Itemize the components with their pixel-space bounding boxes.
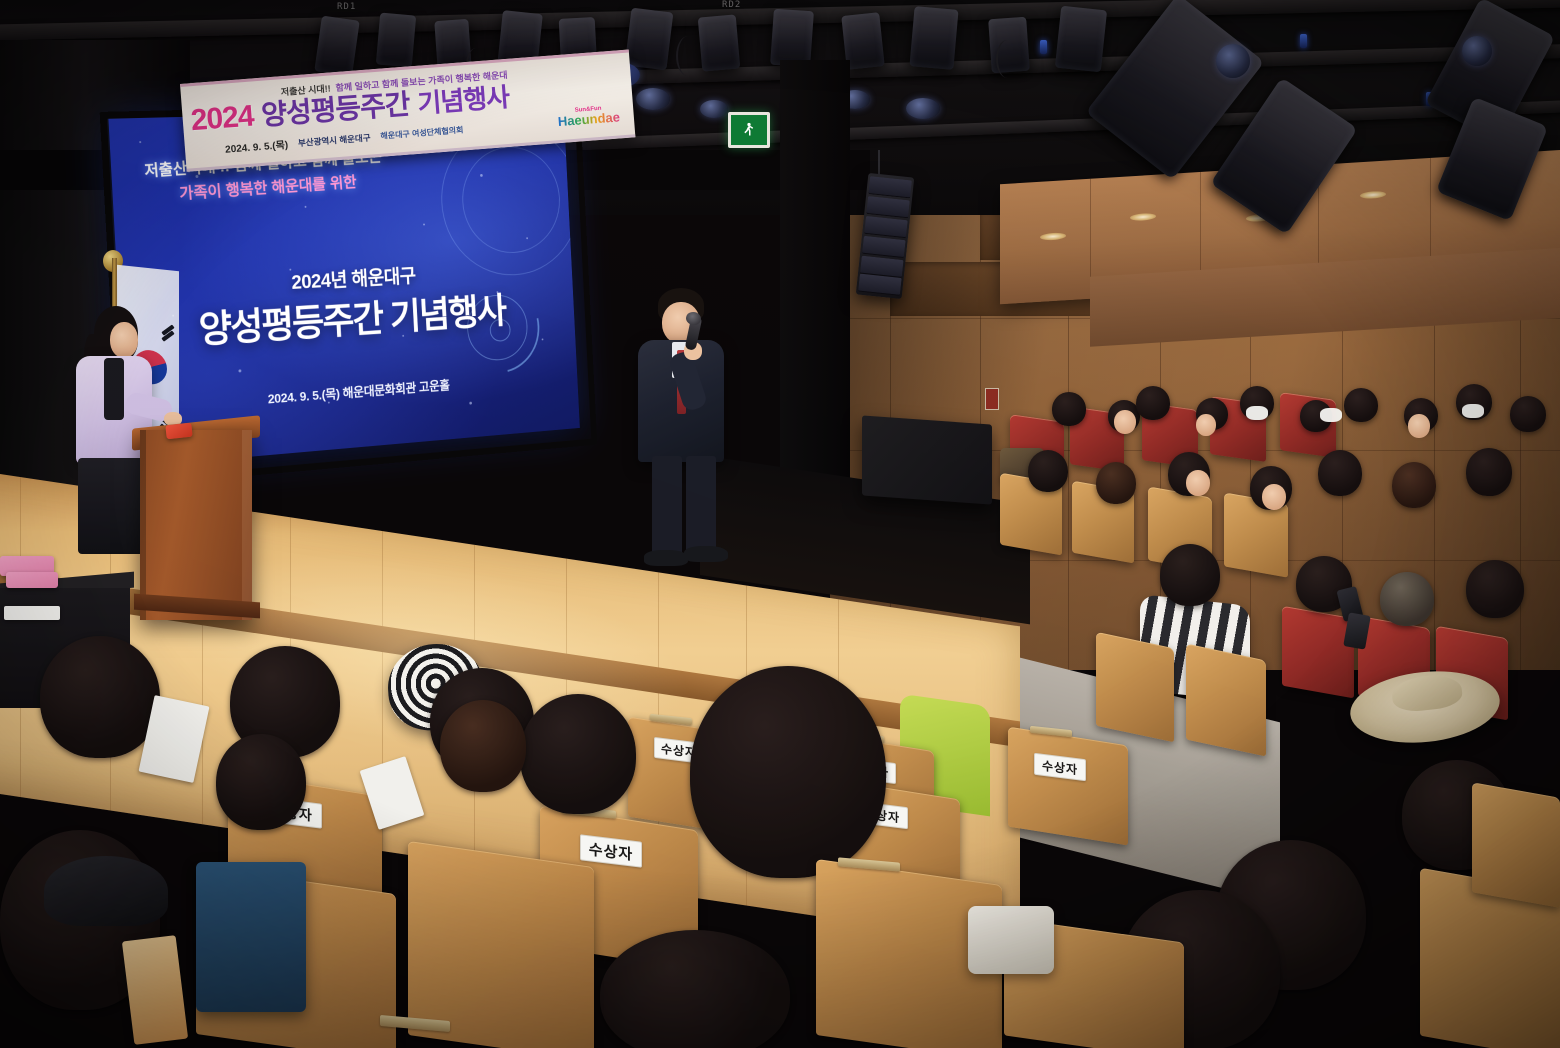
handbag (968, 906, 1054, 974)
face-mask (1462, 404, 1484, 418)
lamp-lens (1462, 36, 1492, 66)
audience-head (216, 734, 306, 830)
audience-head (1466, 448, 1512, 496)
podium-red-card (165, 423, 192, 440)
banner-year: 2024 (190, 100, 255, 139)
stage-light (376, 13, 416, 68)
banner-date: 2024. 9. 5.(목) (224, 136, 288, 156)
banner-org-2: 해운대구 여성단체협의회 (380, 124, 464, 141)
audience-head (40, 636, 160, 758)
audience-head (1510, 396, 1546, 432)
banner-title-sub: 기념행사 (416, 77, 510, 121)
banner-org-1: 부산광역시 해운대구 (298, 131, 371, 149)
rig-label-rd2: RD2 (722, 0, 741, 10)
audience-head (1136, 386, 1170, 420)
rig-label-rd1: RD1 (337, 2, 356, 12)
haeundae-logo: Sun&Fun Haeundae (557, 104, 620, 128)
stage-light (770, 9, 814, 68)
audience-head (1160, 544, 1220, 606)
stage-light (314, 16, 359, 77)
fire-extinguisher-cabinet (985, 388, 999, 410)
speaker-shoe (644, 550, 688, 566)
face-mask (1246, 406, 1268, 420)
program-leaflet (122, 935, 188, 1045)
subwoofer-speaker (862, 415, 992, 504)
audience-head (690, 666, 886, 878)
stage-light (698, 14, 741, 71)
speaker-shoe (684, 546, 728, 562)
audience-head (1028, 450, 1068, 492)
audience-head (1466, 560, 1524, 618)
stage-light (1055, 6, 1107, 72)
tote-bag (196, 862, 306, 1012)
audience-head (1318, 450, 1362, 496)
theater-seat (1008, 726, 1128, 845)
lamp-lens (700, 100, 728, 118)
lamp-lens (906, 98, 940, 119)
audience-head (440, 700, 526, 792)
lamp-lens (1216, 44, 1250, 78)
theater-seat (408, 841, 594, 1048)
stage-light (625, 8, 674, 71)
podium (140, 430, 252, 620)
audience-head (520, 694, 636, 814)
audience-head (1052, 392, 1086, 426)
emergency-exit-icon (728, 112, 770, 148)
stage-light (909, 6, 958, 70)
emcee-face (110, 322, 138, 358)
speaker-with-microphone (632, 288, 742, 570)
audience-head (600, 930, 790, 1048)
black-cap (44, 856, 168, 926)
audience-head (1096, 462, 1136, 504)
paper-stack (4, 606, 60, 620)
auditorium-photo: RD1 RD2 (0, 0, 1560, 1048)
lamp-lens (636, 88, 670, 110)
audience-head (1392, 462, 1436, 508)
audience-head (1344, 388, 1378, 422)
audience-head (1380, 572, 1434, 626)
face-mask (1320, 408, 1342, 422)
award-gift-box (6, 572, 58, 588)
haeundae-logo-text: Haeundae (557, 110, 620, 128)
